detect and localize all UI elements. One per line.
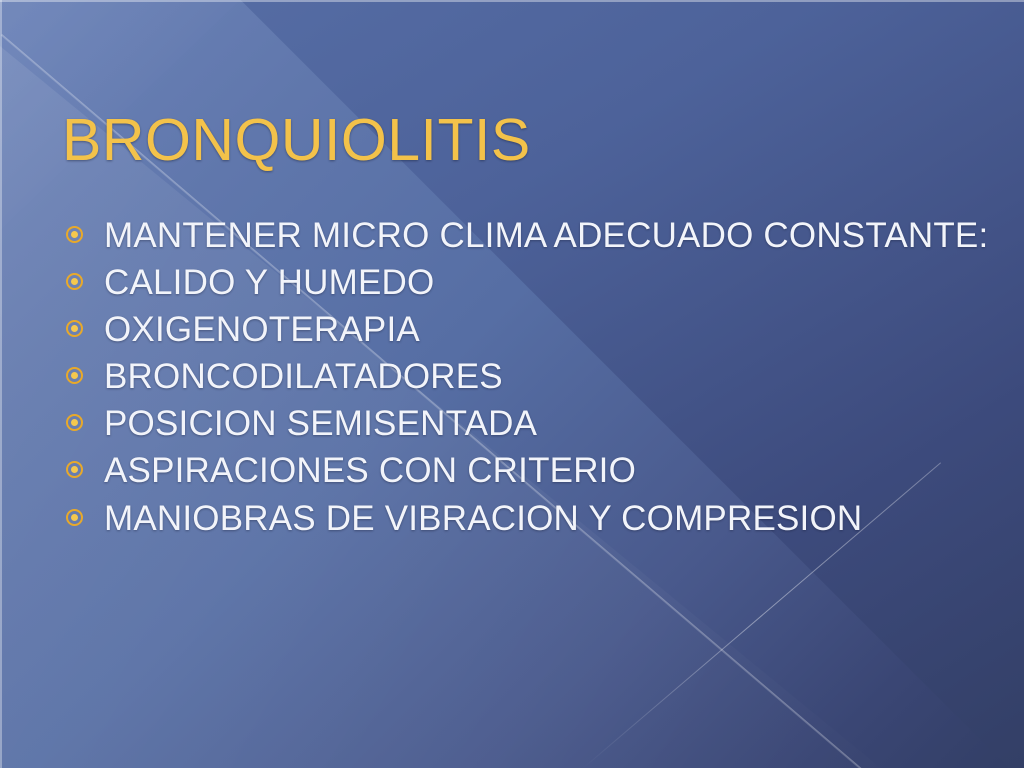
- list-item: MANIOBRAS DE VIBRACION Y COMPRESION: [66, 497, 996, 541]
- slide: BRONQUIOLITIS MANTENER MICRO CLIMA ADECU…: [0, 0, 1024, 768]
- bullet-target-icon: [66, 226, 83, 243]
- bullet-target-icon: [66, 367, 83, 384]
- list-item: CALIDO Y HUMEDO: [66, 261, 996, 305]
- list-item-label: ASPIRACIONES CON CRITERIO: [104, 449, 636, 493]
- bullet-target-icon: [66, 320, 83, 337]
- list-item-label: POSICION SEMISENTADA: [104, 402, 537, 446]
- bullet-target-icon: [66, 414, 83, 431]
- bullet-target-icon: [66, 509, 83, 526]
- list-item-label: BRONCODILATADORES: [104, 355, 503, 399]
- slide-content: BRONQUIOLITIS MANTENER MICRO CLIMA ADECU…: [0, 0, 1024, 768]
- slide-title: BRONQUIOLITIS: [62, 110, 531, 172]
- bullet-target-icon: [66, 461, 83, 478]
- bullet-target-icon: [66, 273, 83, 290]
- list-item-label: OXIGENOTERAPIA: [104, 308, 420, 352]
- list-item: MANTENER MICRO CLIMA ADECUADO CONSTANTE:: [66, 214, 996, 258]
- list-item: BRONCODILATADORES: [66, 355, 996, 399]
- list-item-label: MANTENER MICRO CLIMA ADECUADO CONSTANTE:: [104, 214, 988, 258]
- list-item: ASPIRACIONES CON CRITERIO: [66, 449, 996, 493]
- bullet-list: MANTENER MICRO CLIMA ADECUADO CONSTANTE:…: [66, 214, 996, 544]
- list-item-label: MANIOBRAS DE VIBRACION Y COMPRESION: [104, 497, 862, 541]
- list-item: POSICION SEMISENTADA: [66, 402, 996, 446]
- list-item: OXIGENOTERAPIA: [66, 308, 996, 352]
- list-item-label: CALIDO Y HUMEDO: [104, 261, 434, 305]
